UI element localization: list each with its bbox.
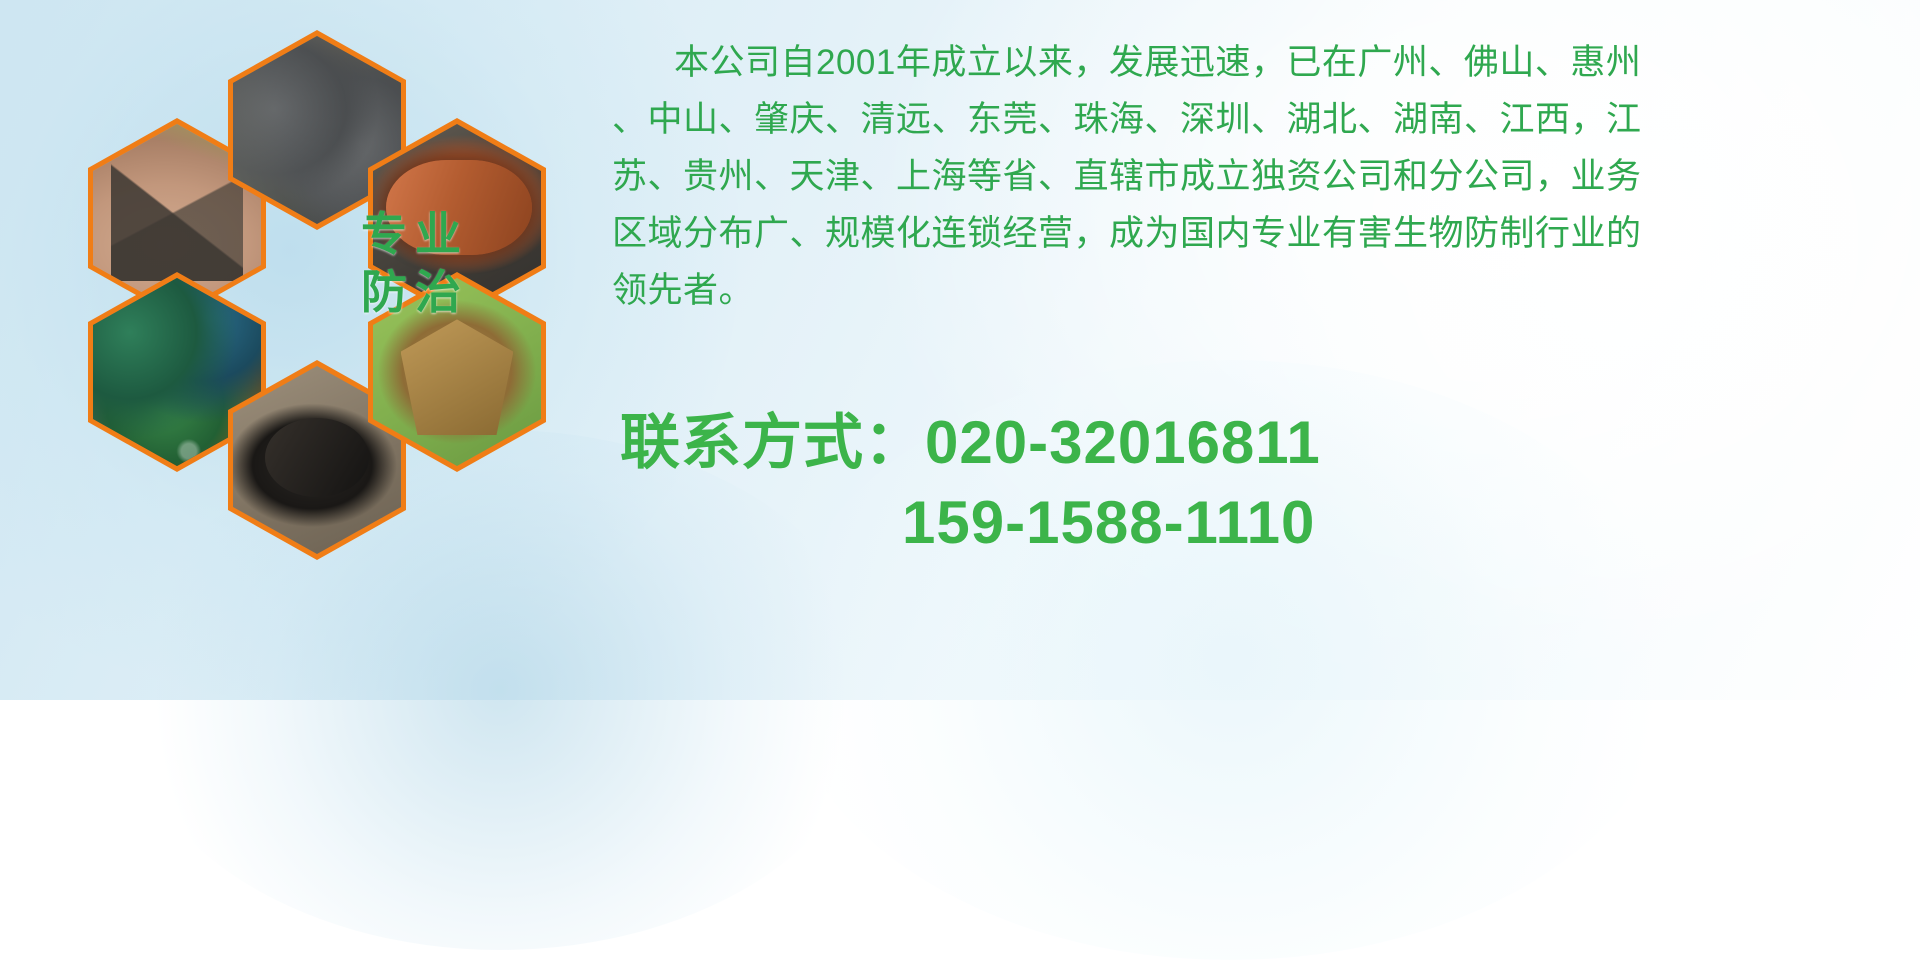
description-line: 本公司自2001年成立以来，发展迅速，已在广州、佛山、惠州 [612,34,1882,91]
contact-label: 联系方式： [620,409,925,476]
contact-landline-number[interactable]: 020-32016811 [925,409,1321,476]
description-line: 苏、贵州、天津、上海等省、直辖市成立独资公司和分公司，业务 [612,148,1882,205]
company-description: 本公司自2001年成立以来，发展迅速，已在广州、佛山、惠州 、中山、肇庆、清远、… [612,34,1882,319]
promo-banner: 专业 防治 本公司自2001年成立以来，发展迅速，已在广州、佛山、惠州 、中山、… [0,0,1920,700]
description-line: 领先者。 [612,262,1882,319]
contact-mobile-row: 159-1588-1110 [620,483,1910,563]
contact-landline-row: 联系方式：020-32016811 [620,403,1910,483]
contact-block: 联系方式：020-32016811 159-1588-1110 [620,403,1910,563]
cluster-slogan-line-2: 防治 [340,264,490,322]
description-line: 区域分布广、规模化连锁经营，成为国内专业有害生物防制行业的 [612,205,1882,262]
description-line: 、中山、肇庆、清远、东莞、珠海、深圳、湖北、湖南、江西，江 [612,91,1882,148]
cluster-slogan-line-1: 专业 [340,206,490,264]
contact-mobile-number[interactable]: 159-1588-1110 [902,489,1315,556]
cluster-slogan: 专业 防治 [340,206,490,321]
hexagon-photo-cluster: 专业 防治 [88,10,588,570]
